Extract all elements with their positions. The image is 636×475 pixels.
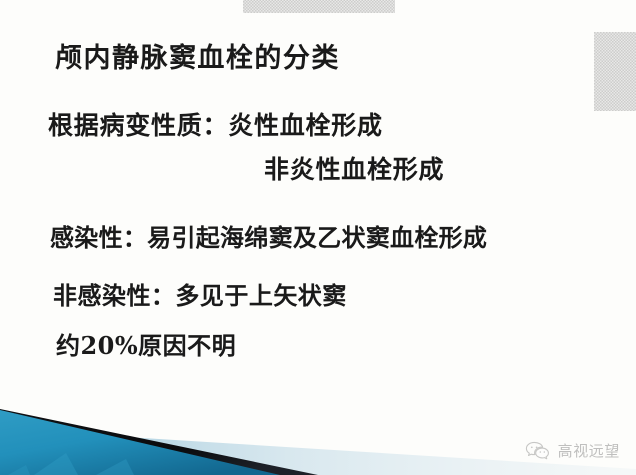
decor-blue-triangle [0, 410, 280, 475]
slide-title: 颅内静脉窦血栓的分类 [55, 36, 340, 75]
slide-line-infectious: 感染性：易引起海绵窦及乙状窦血栓形成 [50, 218, 487, 253]
slide-footer-decoration [0, 385, 636, 475]
slide-line-classification-by-nature: 根据病变性质：炎性血栓形成 [48, 106, 383, 142]
slide-line-noninflammatory-thrombosis: 非炎性血栓形成 [264, 150, 444, 186]
wechat-icon [525, 441, 551, 461]
wechat-watermark: 高视远望 [525, 440, 620, 461]
wechat-watermark-label: 高视远望 [558, 440, 620, 461]
presentation-slide: 颅内静脉窦血栓的分类 根据病变性质：炎性血栓形成 非炎性血栓形成 感染性：易引起… [0, 0, 636, 475]
slide-line-noninfectious: 非感染性：多见于上矢状窦 [53, 276, 347, 311]
slide-line-unknown-cause: 约20%原因不明 [56, 326, 236, 361]
